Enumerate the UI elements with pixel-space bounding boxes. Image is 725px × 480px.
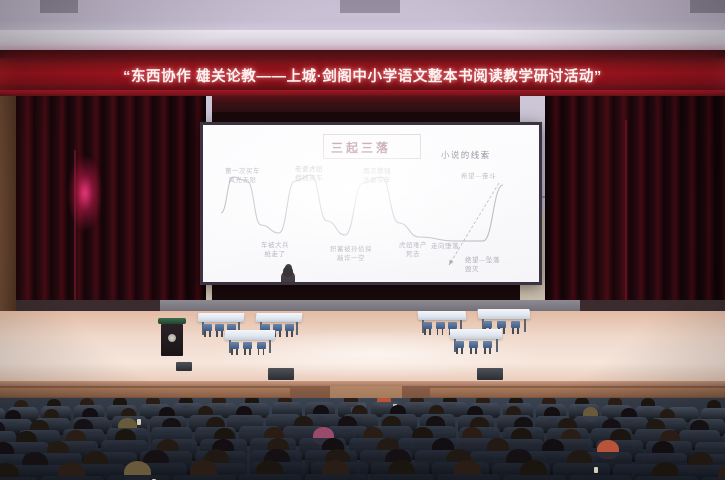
chair-leg (461, 348, 463, 354)
student-chair (483, 321, 492, 328)
student-chair (243, 342, 252, 349)
student-desk (256, 313, 303, 322)
desk-leg (496, 339, 498, 352)
student-desk (450, 329, 503, 339)
desk-leg (269, 340, 271, 353)
chair-leg (489, 348, 491, 354)
audience-seat (305, 474, 368, 480)
student-chair (203, 324, 212, 331)
chair-leg (503, 328, 505, 334)
student-chair (423, 322, 432, 329)
student-desk (225, 330, 276, 340)
student-chair (257, 342, 266, 349)
audience-seat (371, 474, 434, 480)
student-desk (418, 311, 467, 320)
student-chair (230, 342, 239, 349)
chair-leg (470, 348, 472, 354)
audience-seat (239, 474, 302, 480)
phone-screen (137, 419, 141, 425)
audience-seat (437, 474, 500, 480)
phone-screen (594, 467, 598, 473)
desk-leg (524, 319, 526, 332)
chair-leg (429, 329, 431, 335)
stage-monitor-speaker (477, 368, 503, 380)
audience-seating (0, 398, 725, 480)
student-chair (469, 341, 478, 348)
chair-leg (456, 348, 458, 354)
chair-leg (512, 328, 514, 334)
audience-seat (569, 475, 632, 480)
student-chair (215, 324, 224, 331)
stage-monitor-speaker (268, 368, 294, 380)
student-chair (455, 341, 464, 348)
desk-leg (296, 322, 298, 335)
chair-leg (442, 329, 444, 335)
chair-leg (484, 348, 486, 354)
chair-leg (517, 328, 519, 334)
student-chair (285, 324, 294, 331)
student-chair (436, 322, 445, 329)
chair-leg (286, 331, 288, 337)
chair-leg (437, 329, 439, 335)
audience-seat (503, 475, 566, 480)
chair-leg (221, 331, 223, 337)
chair-leg (279, 331, 281, 337)
chair-leg (263, 349, 265, 355)
student-chair (497, 321, 506, 328)
audience-seat (635, 476, 698, 480)
student-desk (198, 313, 245, 322)
audience-seat (41, 476, 104, 480)
student-desk (478, 309, 531, 319)
chair-leg (209, 331, 211, 337)
student-chair (483, 341, 492, 348)
chair-leg (424, 329, 426, 335)
student-chair (511, 321, 520, 328)
chair-leg (231, 349, 233, 355)
audience-seat (107, 475, 170, 480)
chair-leg (236, 349, 238, 355)
student-chair (448, 322, 457, 329)
chair-leg (258, 349, 260, 355)
chair-leg (244, 349, 246, 355)
chair-leg (216, 331, 218, 337)
step (0, 388, 290, 397)
step (430, 388, 725, 397)
chair-leg (291, 331, 293, 337)
stage-monitor-speaker (176, 362, 192, 371)
audience-seat (173, 475, 236, 480)
chair-leg (249, 349, 251, 355)
auditorium-scene: “东西协作 雄关论教——上城·剑阁中小学语文整本书阅读教学研讨活动” 三起三落 … (0, 0, 725, 480)
chair-leg (475, 348, 477, 354)
chair-leg (204, 331, 206, 337)
